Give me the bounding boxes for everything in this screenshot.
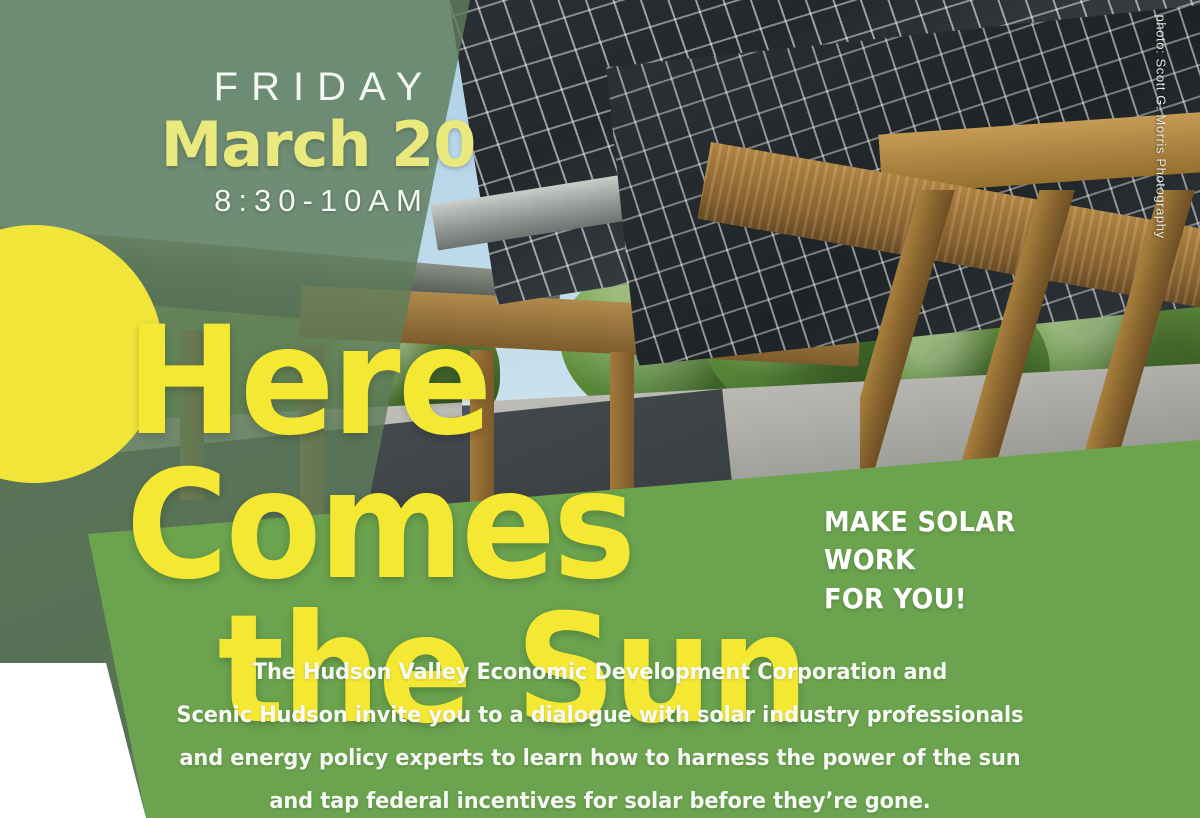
tagline-line-1: MAKE SOLAR — [824, 503, 1063, 541]
headline-line-1: Here Comes — [126, 295, 633, 613]
description-line-1: The Hudson Valley Economic Development C… — [173, 652, 1028, 695]
event-flyer: FRIDAY March 20 8:30-10AM Here Comes the… — [0, 0, 1200, 818]
event-day-label: FRIDAY — [148, 66, 488, 108]
event-time-label: 8:30-10AM — [148, 181, 488, 221]
event-date-label: March 20 — [148, 108, 488, 181]
tagline-line-2: WORK — [824, 541, 1063, 579]
photo-credit: photo: Scott G. Morris Photography — [1154, 15, 1169, 265]
tagline-line-3: FOR YOU! — [824, 580, 1063, 618]
description-line-3: and energy policy experts to learn how t… — [173, 738, 1028, 781]
flyer-content: FRIDAY March 20 8:30-10AM Here Comes the… — [0, 0, 1200, 818]
description-line-2: Scenic Hudson invite you to a dialogue w… — [173, 695, 1028, 738]
event-date-block: FRIDAY March 20 8:30-10AM — [148, 66, 488, 221]
event-description: The Hudson Valley Economic Development C… — [173, 652, 1028, 818]
tagline-block: MAKE SOLAR WORK FOR YOU! — [824, 503, 1063, 618]
description-line-4: and tap federal incentives for solar bef… — [173, 781, 1028, 818]
